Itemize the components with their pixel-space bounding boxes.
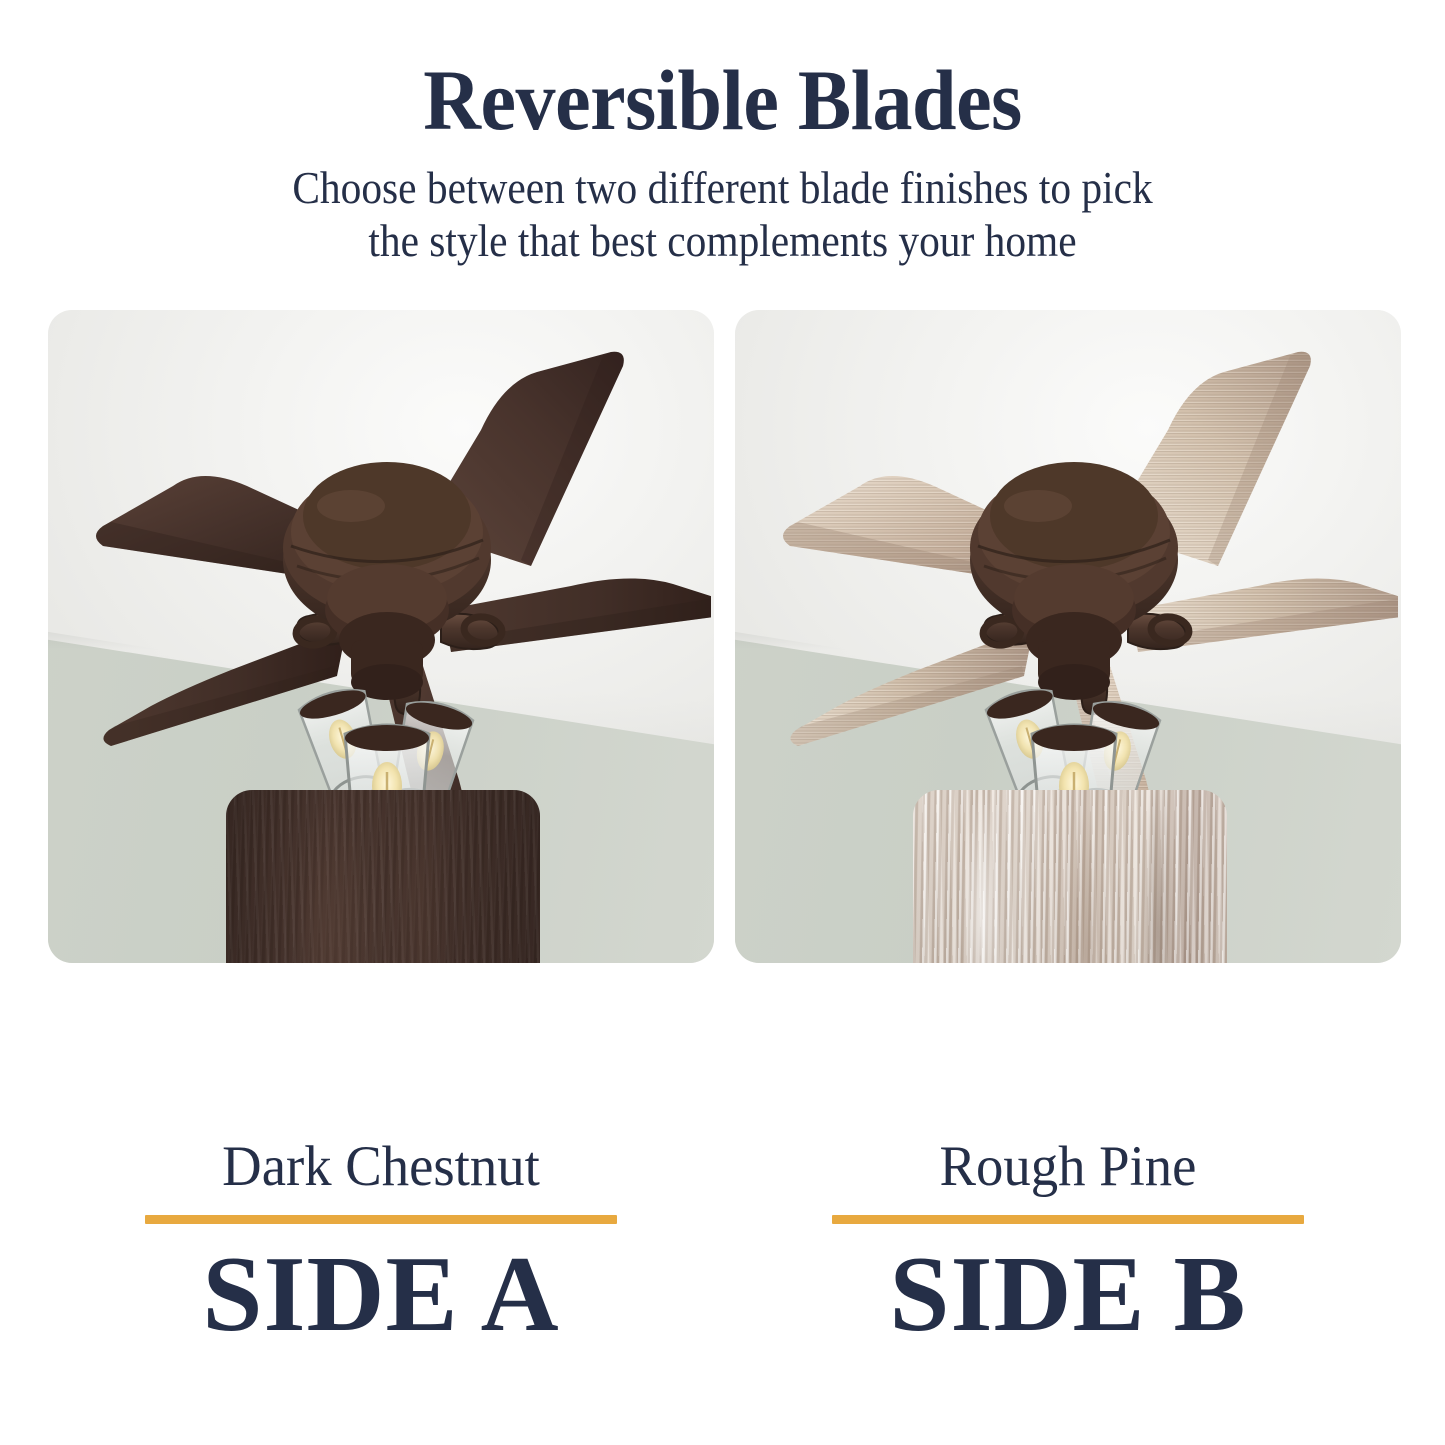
gold-divider-side-b xyxy=(832,1215,1304,1224)
caption-side-a: Dark Chestnut SIDE A xyxy=(48,1138,714,1350)
page-title: Reversible Blades xyxy=(51,58,1395,142)
dark-chestnut-swatch xyxy=(226,790,540,963)
side-label-b: SIDE B xyxy=(735,1240,1401,1350)
rough-pine-grain xyxy=(913,790,1227,963)
finish-name-side-a: Dark Chestnut xyxy=(61,1138,700,1195)
panel-side-b xyxy=(735,310,1401,963)
panel-side-a xyxy=(48,310,714,963)
finish-name-side-b: Rough Pine xyxy=(748,1138,1387,1195)
product-photo-side-b xyxy=(735,310,1401,963)
subtitle-line-1: Choose between two different blade finis… xyxy=(58,162,1387,215)
header: Reversible Blades Choose between two dif… xyxy=(0,0,1445,268)
subtitle-line-2: the style that best complements your hom… xyxy=(58,215,1387,268)
caption-side-b: Rough Pine SIDE B xyxy=(735,1138,1401,1350)
gold-divider-side-a xyxy=(145,1215,617,1224)
side-label-a: SIDE A xyxy=(48,1240,714,1350)
product-photo-side-a xyxy=(48,310,714,963)
dark-chestnut-grain xyxy=(226,790,540,963)
rough-pine-swatch xyxy=(913,790,1227,963)
page-subtitle: Choose between two different blade finis… xyxy=(58,162,1387,267)
